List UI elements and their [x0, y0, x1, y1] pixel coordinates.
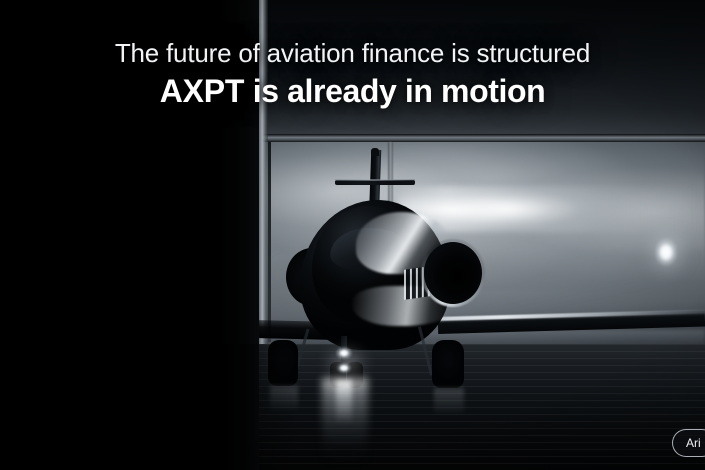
right-wing	[438, 311, 705, 334]
taxi-light-icon-upper	[335, 346, 353, 360]
nose-gear-tire-right	[347, 362, 363, 388]
watermark-badge[interactable]: Ari	[672, 429, 705, 457]
horizontal-stabilizer	[335, 180, 415, 185]
right-gear-brace	[418, 326, 433, 375]
right-engine-nacelle-rim	[421, 239, 485, 307]
fuselage-spine-highlight	[356, 212, 452, 274]
headline-line-2: AXPT is already in motion	[0, 70, 705, 112]
engine-louvre-strakes	[404, 266, 430, 300]
right-engine-nacelle	[424, 242, 482, 304]
apron-floor	[0, 344, 705, 470]
watermark-label: Ari	[686, 436, 701, 450]
headline-line-2-rest: is already in motion	[244, 73, 545, 109]
doorway-window-divider	[388, 142, 393, 268]
right-gear-reflection	[434, 388, 464, 416]
left-main-gear-wheels	[268, 340, 298, 386]
sky-clouds	[262, 140, 705, 290]
floodlight-glare-band	[398, 186, 698, 232]
floodlight-glare-spread	[400, 196, 690, 316]
nose-gear-strut	[341, 336, 347, 376]
right-main-gear-wheels	[432, 340, 464, 388]
headline-line-1: The future of aviation finance is struct…	[0, 36, 705, 70]
fuselage-belly-highlight	[352, 286, 460, 326]
vertical-stabilizer	[369, 150, 382, 222]
left-gear-brace	[293, 329, 309, 376]
fuselage	[300, 200, 450, 350]
horizontal-stabilizer-highlight	[335, 179, 415, 181]
light-reflection-pool	[322, 378, 368, 466]
right-wing-leading-edge	[436, 309, 705, 321]
cockpit-windscreen	[329, 225, 410, 270]
apron-far-edge	[262, 330, 705, 360]
lamp-halo	[634, 212, 700, 292]
taxi-light-glow	[312, 334, 380, 392]
taxi-light-icon-lower	[336, 362, 352, 374]
light-reflection-core	[336, 380, 352, 424]
apron-left-shadow	[0, 344, 300, 470]
doorway-horizontal-mullion	[262, 134, 705, 142]
nose-cone	[312, 206, 424, 324]
ticker-symbol: AXPT	[160, 73, 245, 109]
hangar-lamp-icon	[655, 236, 677, 266]
vertical-stabilizer-tip	[371, 148, 379, 156]
nose-gear-tire-left	[330, 362, 346, 388]
left-engine-nacelle	[286, 248, 338, 306]
hero-banner: The future of aviation finance is struct…	[0, 0, 705, 470]
left-wing	[150, 317, 336, 340]
headline-block: The future of aviation finance is struct…	[0, 36, 705, 112]
doorway-jamb-shadow	[268, 142, 271, 342]
left-gear-reflection	[270, 386, 298, 412]
